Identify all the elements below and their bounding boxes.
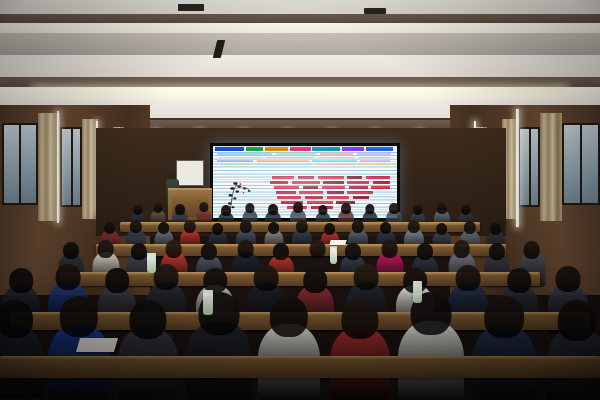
conference-hall-photo — [0, 0, 600, 400]
audience-member-head — [389, 203, 399, 214]
audience-member-head — [201, 243, 217, 260]
audience-member-head — [268, 204, 278, 215]
audience-member — [546, 300, 600, 400]
audience-member-head — [0, 300, 33, 338]
audience-member-head — [268, 222, 280, 234]
audience-member-head — [523, 241, 540, 259]
audience-member-head — [175, 204, 185, 215]
audience-member-head — [63, 242, 79, 259]
thermos-cup — [147, 255, 156, 273]
audience-member-head — [97, 240, 114, 258]
audience-member-head — [104, 222, 116, 234]
bench-top-edge — [0, 356, 600, 359]
audience-member-head — [199, 202, 208, 212]
audience-member-head — [354, 264, 379, 290]
audience-member-head — [153, 203, 162, 213]
audience-member-head — [221, 205, 231, 216]
audience-member-head — [130, 220, 142, 233]
audience-member-head — [60, 296, 98, 337]
audience-member-head — [129, 300, 166, 339]
audience-member-head — [303, 268, 327, 293]
audience-member-head — [352, 220, 364, 233]
water-bottle-1 — [330, 248, 337, 264]
audience-member-head — [133, 205, 142, 215]
audience-member-head — [212, 223, 224, 235]
audience-member-head — [453, 240, 470, 258]
audience-member-head — [345, 243, 361, 260]
audience-member-head — [461, 205, 470, 215]
audience-member-head — [464, 221, 476, 234]
paper-sheet-2 — [329, 240, 346, 245]
audience-member-head — [56, 264, 81, 290]
audience-member-head — [484, 296, 524, 338]
paper-sheet-1 — [76, 338, 118, 352]
audience-member-head — [558, 300, 596, 341]
audience-member — [330, 300, 390, 400]
audience-member-head — [413, 205, 422, 215]
audience-member — [118, 300, 178, 400]
audience-member-head — [417, 243, 433, 260]
audience-member-head — [381, 240, 398, 258]
audience-member-head — [184, 220, 196, 233]
audience-member-head — [240, 220, 252, 233]
audience-member-head — [309, 240, 326, 258]
audience-member-head — [245, 203, 254, 213]
audience-member-head — [490, 223, 502, 235]
audience-member-head — [254, 265, 279, 291]
audience-member-head — [131, 243, 147, 260]
audience-member-head — [341, 203, 351, 214]
audience-member-head — [158, 222, 170, 234]
audience-member-head — [154, 264, 179, 290]
water-bottle-3 — [203, 292, 213, 315]
audience-member — [398, 292, 464, 400]
bottle-cap — [330, 246, 337, 249]
bench-row — [0, 356, 600, 378]
audience-member-head — [380, 222, 392, 234]
bench-row — [96, 244, 506, 256]
audience-member-head — [9, 268, 33, 293]
audience-member-head — [105, 268, 129, 293]
audience-member-head — [237, 240, 254, 258]
audience-member-head — [556, 266, 581, 292]
audience-member-head — [324, 223, 336, 235]
audience-member-head — [365, 204, 374, 214]
audience-member-head — [408, 220, 420, 233]
audience-member — [0, 300, 44, 400]
audience-member-head — [507, 268, 531, 293]
audience-member-head — [318, 205, 327, 215]
audience-member-head — [489, 243, 505, 260]
audience-member — [186, 292, 252, 400]
audience-member-head — [273, 243, 289, 260]
audience-member-head — [456, 265, 481, 291]
bottle-cap — [147, 253, 156, 256]
audience-member-head — [293, 202, 303, 213]
bottle-cap — [413, 281, 422, 284]
audience-member — [258, 296, 320, 400]
bench-top-edge — [96, 244, 506, 247]
audience-member-head — [296, 220, 308, 233]
audience-member-head — [437, 203, 447, 214]
audience — [0, 0, 600, 400]
audience-member — [472, 296, 536, 400]
water-bottle-2 — [413, 283, 422, 303]
bottle-cap — [203, 290, 213, 293]
audience-member-head — [341, 300, 378, 339]
audience-member-head — [270, 296, 308, 337]
audience-member-head — [165, 240, 182, 258]
audience-member-head — [436, 223, 448, 235]
